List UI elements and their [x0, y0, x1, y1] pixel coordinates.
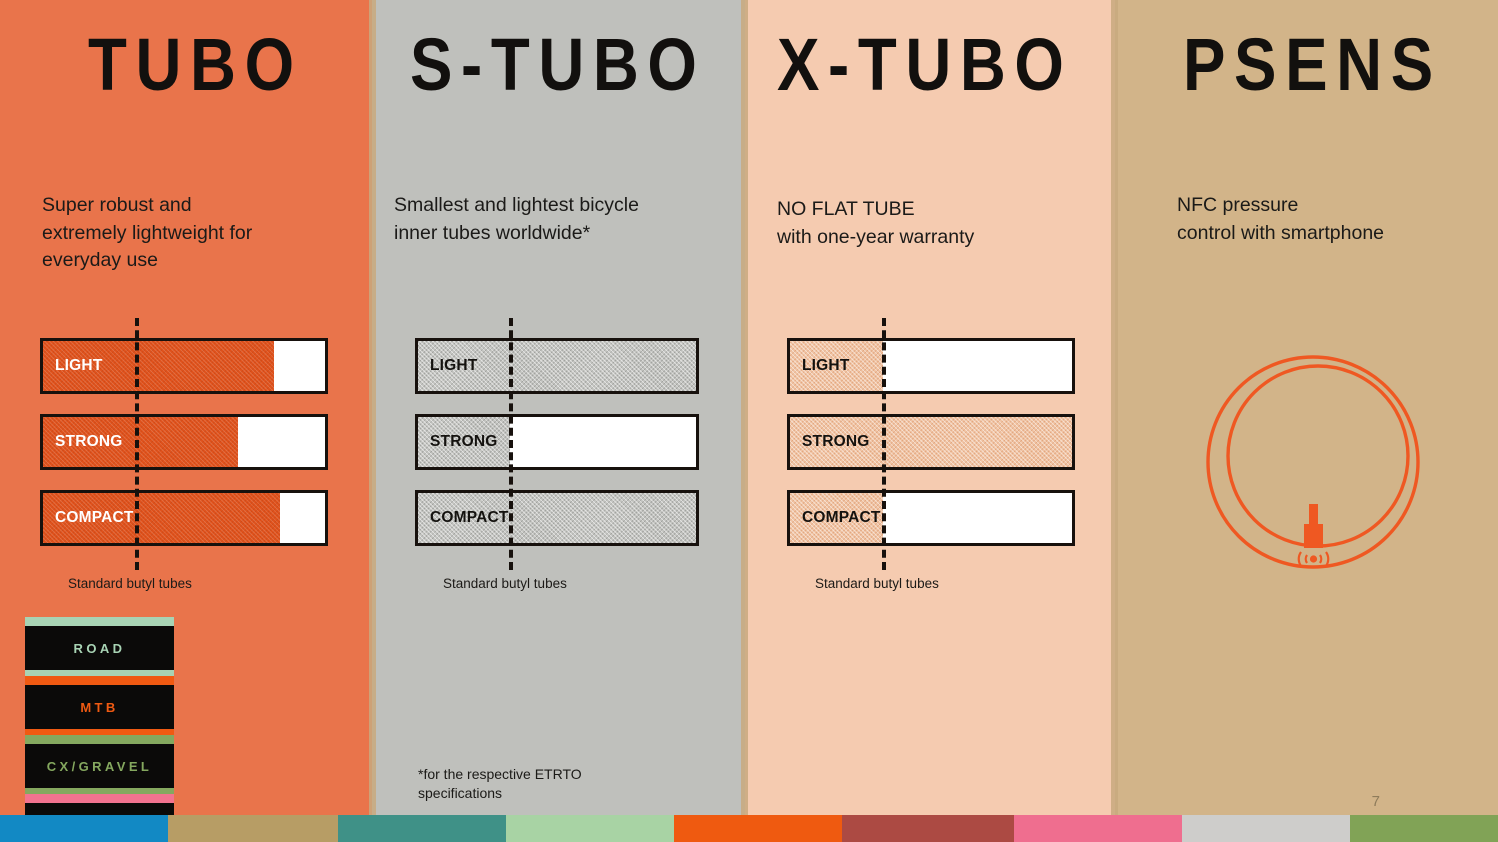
bar-row: COMPACT [40, 490, 328, 546]
color-band [338, 815, 506, 842]
brand-title-s-tubo: S-TUBO [410, 28, 706, 102]
reference-dashed-line [882, 318, 886, 570]
axis-note-s-tubo: Standard butyl tubes [443, 576, 567, 591]
axis-note-x-tubo: Standard butyl tubes [815, 576, 939, 591]
panel-divider [741, 0, 748, 842]
tagline-s-tubo: Smallest and lightest bicycle inner tube… [394, 192, 639, 247]
tag-road[interactable]: ROAD [25, 626, 174, 670]
panel-x-tubo: X-TUBONO FLAT TUBE with one-year warrant… [745, 0, 1115, 842]
color-band [674, 815, 842, 842]
color-band [1014, 815, 1182, 842]
bar-row: STRONG [415, 414, 699, 470]
bar-row: LIGHT [787, 338, 1075, 394]
bar-label: COMPACT [802, 509, 881, 527]
bar-chart-x-tubo: LIGHTSTRONGCOMPACT [787, 338, 1075, 566]
color-band [0, 815, 168, 842]
bar-row: LIGHT [40, 338, 328, 394]
bar-row: COMPACT [787, 490, 1075, 546]
color-band [506, 815, 674, 842]
slide-root: TUBOSuper robust and extremely lightweig… [0, 0, 1498, 842]
brand-title-psens: PSENS [1183, 28, 1442, 102]
tag-mtb[interactable]: MTB [25, 685, 174, 729]
bar-label: LIGHT [55, 357, 103, 375]
tag-group-tubo: ROADMTBCX/GRAVELBMXCARGOFOLDINGBIKE [25, 626, 343, 842]
tag-label: ROAD [74, 641, 126, 656]
bar-label: LIGHT [430, 357, 478, 375]
reference-dashed-line [135, 318, 139, 570]
bar-row: LIGHT [415, 338, 699, 394]
bar-label: LIGHT [802, 357, 850, 375]
tube-nfc-sensor-icon [1191, 352, 1441, 582]
footnote-s-tubo: *for the respective ETRTO specifications [418, 765, 582, 804]
tagline-tubo: Super robust and extremely lightweight f… [42, 192, 252, 275]
panel-divider [369, 0, 376, 842]
color-band [1350, 815, 1498, 842]
bar-label: STRONG [55, 433, 123, 451]
color-band [1182, 815, 1350, 842]
panel-tubo: TUBOSuper robust and extremely lightweig… [0, 0, 372, 842]
panel-psens: PSENSNFC pressure control with smartphon… [1115, 0, 1498, 842]
tag-cx-gravel[interactable]: CX/GRAVEL [25, 744, 174, 788]
tag-label: MTB [80, 700, 118, 715]
brand-title-x-tubo: X-TUBO [777, 28, 1073, 102]
bar-label: STRONG [430, 433, 498, 451]
reference-dashed-line [509, 318, 513, 570]
color-band [168, 815, 338, 842]
bar-chart-s-tubo: LIGHTSTRONGCOMPACT [415, 338, 699, 566]
panel-divider [1111, 0, 1118, 842]
axis-note-tubo: Standard butyl tubes [68, 576, 192, 591]
bar-chart-tubo: LIGHTSTRONGCOMPACT [40, 338, 328, 566]
tagline-x-tubo: NO FLAT TUBE with one-year warranty [777, 196, 974, 251]
bar-label: COMPACT [55, 509, 134, 527]
bar-row: STRONG [787, 414, 1075, 470]
tag-label: CX/GRAVEL [47, 759, 152, 774]
bottom-color-strip [0, 815, 1498, 842]
bar-row: STRONG [40, 414, 328, 470]
color-band [842, 815, 1014, 842]
bar-label: COMPACT [430, 509, 509, 527]
bar-label: STRONG [802, 433, 870, 451]
bar-row: COMPACT [415, 490, 699, 546]
tagline-psens: NFC pressure control with smartphone [1177, 192, 1384, 247]
panel-s-tubo: S-TUBOSmallest and lightest bicycle inne… [372, 0, 745, 842]
brand-title-tubo: TUBO [88, 28, 303, 102]
page-number: 7 [1372, 793, 1380, 810]
